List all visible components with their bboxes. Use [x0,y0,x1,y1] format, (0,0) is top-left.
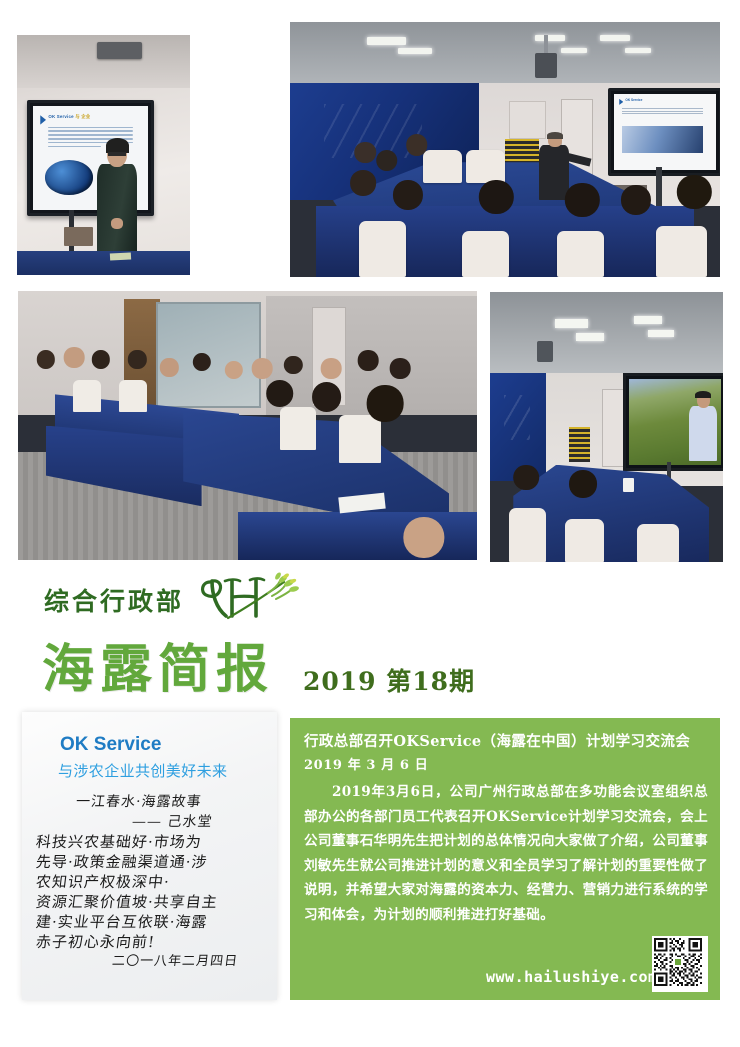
page-title: 海露简报 [42,627,274,702]
photo-meeting-room-audience: OK Service [290,22,720,277]
lh-leaf-logo [198,572,306,624]
projector-icon [537,341,553,363]
photo-wide-audience [18,291,477,560]
projector-icon [535,53,557,79]
presenter-person [97,141,139,266]
calligraphy-signature-date: 二〇一八年二月四日 [35,952,269,972]
website-url[interactable]: www.hailushiye.com [486,968,658,986]
article-date: 2019 年 3 月 6 日 [304,754,428,773]
calligraphy-line-2: —— 己水堂 [35,812,269,832]
masthead: 综合行政部 [0,568,740,698]
slide-bullet-arrow-icon [40,115,46,124]
photo-viewers-screen [490,292,723,562]
projector-icon [97,42,142,59]
newsletter-page: OK Service 与 企业 [0,0,740,1047]
slide-title-cn: 与 企业 [75,114,90,119]
presentation-screen: OK Service [608,88,720,176]
calligraphy-note: 一江春水·海露故事 —— 己水堂 科技兴农基础好·市场为 先导·政策金融渠道通·… [36,792,268,987]
calligraphy-line-3: 科技兴农基础好·市场为 [35,832,269,852]
calligraphy-line-7: 建·实业平台互依联·海露 [35,912,269,932]
presentation-screen [623,373,723,471]
slide-image [622,126,703,153]
article-title: 行政总部召开OKService（海露在中国）计划学习交流会 [304,730,710,751]
news-article-panel: 行政总部召开OKService（海露在中国）计划学习交流会 2019 年 3 月… [290,718,720,1000]
presenter-person [539,134,569,200]
globe-graphic [45,160,93,194]
calligraphy-line-5: 农知识产权极深中· [35,872,269,892]
calligraphy-line-8: 赤子初心永向前! [35,932,269,952]
slide-bullet-arrow-icon [619,99,623,105]
ok-service-heading-en: OK Service [60,734,161,756]
ok-service-panel: OK Service 与涉农企业共创美好未来 一江春水·海露故事 —— 己水堂 … [22,712,277,1000]
issue-number: 2019 第18期 [303,662,475,698]
slide-title: OK Service [625,98,642,102]
qr-code[interactable] [652,936,708,992]
department-name: 综合行政部 [44,582,184,618]
photo-presenter-slide: OK Service 与 企业 [17,35,190,275]
calligraphy-line-6: 资源汇聚价值坡·共享自主 [35,892,269,912]
calligraphy-line-4: 先导·政策金融渠道通·涉 [35,852,269,872]
slide-title-en: OK Service [48,114,73,119]
ok-service-heading-cn: 与涉农企业共创美好未来 [58,760,227,781]
article-body: 2019年3月6日，公司广州行政总部在多功能会议室组织总部办公的各部门员工代表召… [304,780,708,927]
calligraphy-line-1: 一江春水·海露故事 [35,792,269,812]
